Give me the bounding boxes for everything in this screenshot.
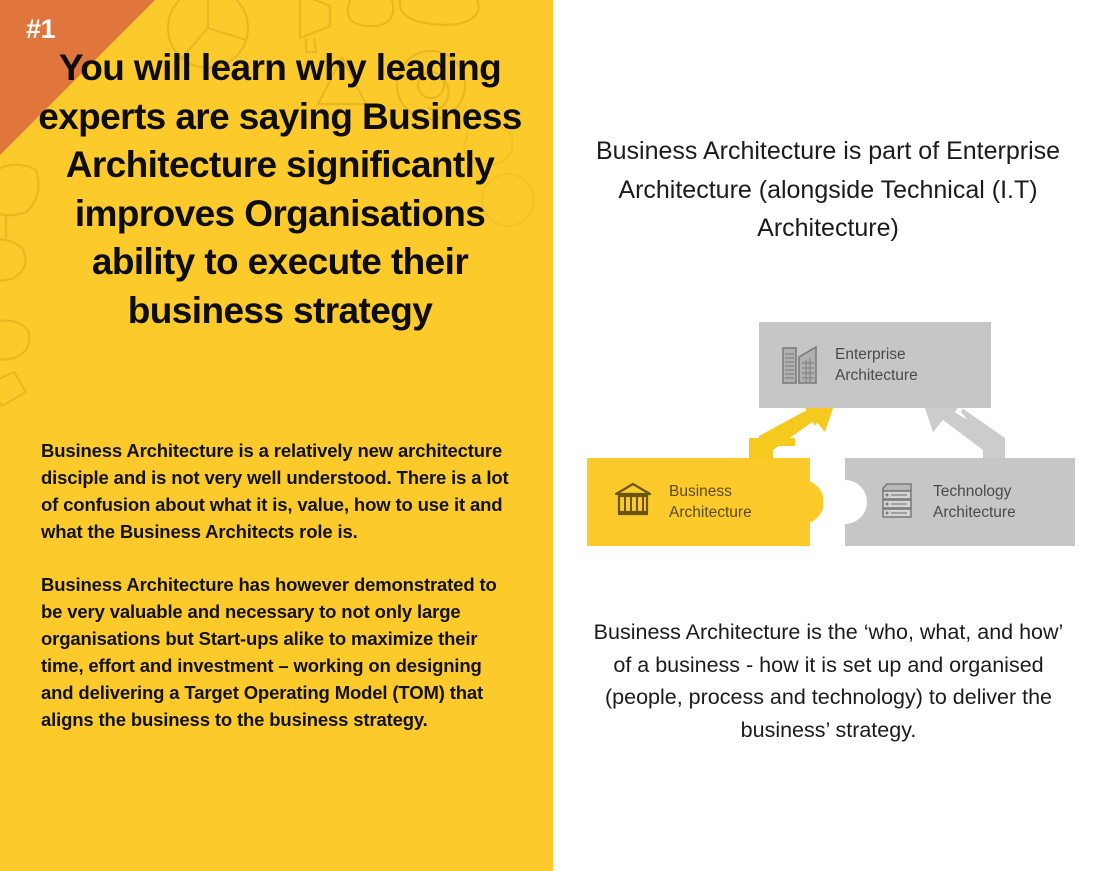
enterprise-architecture-label: Enterprise Architecture [835,344,918,386]
business-architecture-content: Business Architecture [613,458,752,546]
right-white-panel: Business Architecture is part of Enterpr… [553,0,1104,871]
business-architecture-label: Business Architecture [669,481,752,523]
diagram-heading: Business Architecture is part of Enterpr… [588,132,1068,248]
left-yellow-panel: #1 You will learn why leading experts ar… [0,0,553,871]
puzzle-notch-connector [823,480,867,524]
architecture-diagram: Enterprise Architecture [563,310,1093,565]
page-title: You will learn why leading experts are s… [36,44,524,335]
technology-architecture-content: Technology Architecture [879,458,1016,546]
technology-architecture-label: Technology Architecture [933,481,1016,523]
body-copy: Business Architecture is a relatively ne… [41,437,509,733]
business-architecture-box[interactable]: Business Architecture [587,458,837,546]
technology-architecture-box[interactable]: Technology Architecture [845,458,1075,546]
body-paragraph-1: Business Architecture is a relatively ne… [41,437,509,545]
diagram-caption: Business Architecture is the ‘who, what,… [591,616,1066,746]
slide-number-badge: #1 [26,14,55,45]
buildings-icon [781,341,819,390]
slide-canvas: #1 You will learn why leading experts ar… [0,0,1104,871]
server-stack-icon [879,480,917,525]
bank-icon [613,481,653,524]
enterprise-architecture-box[interactable]: Enterprise Architecture [759,322,991,408]
body-paragraph-2: Business Architecture has however demons… [41,571,509,733]
